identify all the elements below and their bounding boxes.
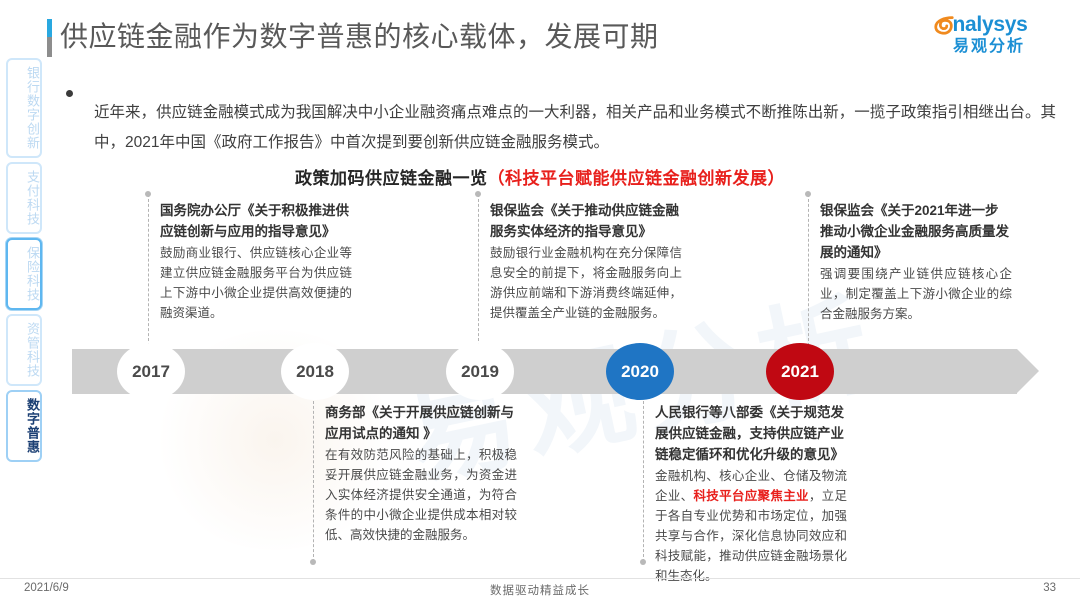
connector-2018 [313, 396, 314, 562]
analysys-logo: nalysys 易观分析 [924, 13, 1054, 59]
connector-2017 [148, 194, 149, 346]
entry-headline-2017: 国务院办公厅《关于积极推进供应链创新与应用的指导意见》 [160, 200, 352, 242]
entry-body-2017: 鼓励商业银行、供应链核心企业等建立供应链金融服务平台为供应链上下游中小微企业提供… [160, 243, 352, 323]
connector-dot-2017 [145, 191, 151, 197]
sidebar-item-bank-digital-innovation[interactable]: 银行数字创新 [6, 58, 42, 158]
entry-body-2019: 鼓励银行业金融机构在充分保障信息安全的前提下，将金融服务向上游供应前端和下游消费… [490, 243, 682, 323]
entry-body-2018: 在有效防范风险的基础上，积极稳妥开展供应链金融业务，为资金进入实体经济提供安全通… [325, 445, 517, 545]
connector-2020 [643, 396, 644, 562]
logo-word-text: nalysys [953, 13, 1028, 36]
entry-headline-2018: 商务部《关于开展供应链创新与应用试点的通知 》 [325, 402, 517, 444]
page-title: 供应链金融作为数字普惠的核心载体，发展可期 [60, 15, 659, 55]
logo-wordmark: nalysys [924, 13, 1054, 37]
entry-headline-2021: 银保监会《关于2021年进一步推动小微企业金融服务高质量发展的通知》 [820, 200, 1012, 263]
title-accent-bar [47, 19, 52, 57]
chart-title-main: 政策加码供应链金融一览 [295, 169, 488, 188]
chart-title-highlight: （科技平台赋能供应链金融创新发展） [488, 169, 786, 188]
timeline-node-2017[interactable]: 2017 [117, 343, 185, 400]
timeline-axis-bar [72, 349, 1017, 394]
intro-text: 近年来，供应链金融模式成为我国解决中小企业融资痛点难点的一大利器，相关产品和业务… [94, 98, 1056, 158]
entry-body-2020: 金融机构、核心企业、仓储及物流企业、科技平台应聚焦主业，立足于各自专业优势和市场… [655, 466, 847, 586]
entry-headline-2020: 人民银行等八部委《关于规范发展供应链金融，支持供应链产业链稳定循环和优化升级的意… [655, 402, 847, 465]
entry-body-2021: 强调要围绕产业链供应链核心企业，制定覆盖上下游小微企业的综合金融服务方案。 [820, 264, 1012, 324]
timeline-entry-2021: 银保监会《关于2021年进一步推动小微企业金融服务高质量发展的通知》 强调要围绕… [820, 200, 1012, 324]
footer-divider [0, 578, 1080, 579]
connector-dot-2020 [640, 559, 646, 565]
bullet-dot-icon [66, 90, 73, 97]
entry-body-2020-highlight: 科技平台应聚焦主业 [693, 489, 808, 503]
timeline-entry-2020: 人民银行等八部委《关于规范发展供应链金融，支持供应链产业链稳定循环和优化升级的意… [655, 402, 847, 586]
timeline-node-2021[interactable]: 2021 [766, 343, 834, 400]
entry-headline-2019: 银保监会《关于推动供应链金融服务实体经济的指导意见》 [490, 200, 682, 242]
connector-dot-2021 [805, 191, 811, 197]
timeline-node-2019[interactable]: 2019 [446, 343, 514, 400]
connector-2019 [478, 194, 479, 346]
page-header: 供应链金融作为数字普惠的核心载体，发展可期 nalysys 易观分析 [0, 0, 1080, 72]
timeline-entry-2019: 银保监会《关于推动供应链金融服务实体经济的指导意见》 鼓励银行业金融机构在充分保… [490, 200, 682, 323]
timeline-entry-2017: 国务院办公厅《关于积极推进供应链创新与应用的指导意见》 鼓励商业银行、供应链核心… [160, 200, 352, 323]
footer-page-number: 33 [1043, 582, 1056, 594]
logo-swoosh-icon [933, 14, 955, 36]
timeline-node-2018[interactable]: 2018 [281, 343, 349, 400]
connector-2021 [808, 194, 809, 346]
chart-title: 政策加码供应链金融一览（科技平台赋能供应链金融创新发展） [0, 164, 1080, 189]
connector-dot-2018 [310, 559, 316, 565]
footer-tagline: 数据驱动精益成长 [0, 582, 1080, 598]
timeline-chart: 易观分析 政策加码供应链金融一览（科技平台赋能供应链金融创新发展） 2017 2… [0, 150, 1080, 570]
timeline-entry-2018: 商务部《关于开展供应链创新与应用试点的通知 》 在有效防范风险的基础上，积极稳妥… [325, 402, 517, 545]
timeline-node-2020[interactable]: 2020 [606, 343, 674, 400]
logo-chinese-text: 易观分析 [924, 37, 1054, 57]
entry-body-2020-post: ，立足于各自专业优势和市场定位，加强共享与合作，深化信息协同效应和科技赋能，推动… [655, 489, 847, 583]
connector-dot-2019 [475, 191, 481, 197]
